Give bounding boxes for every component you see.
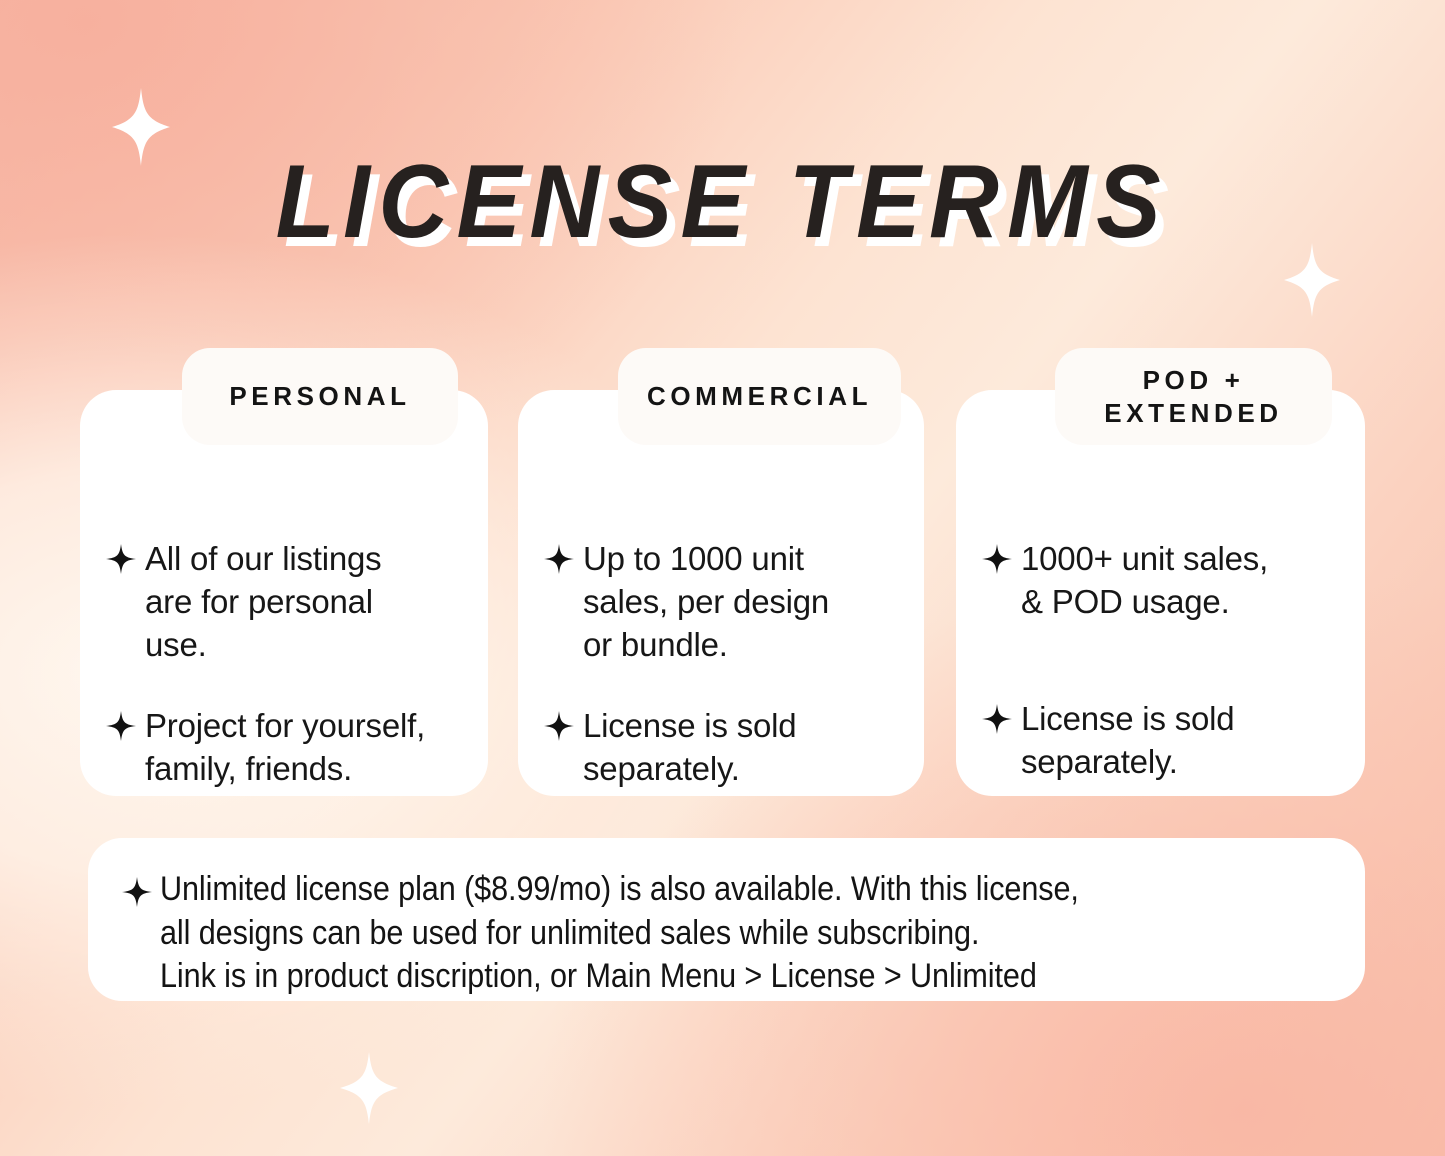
- list-item: 1000+ unit sales, & POD usage.: [982, 538, 1343, 624]
- sparkle-bullet-icon: [982, 704, 1012, 734]
- badge-pod-extended: POD + EXTENDED: [1055, 348, 1332, 445]
- banner-text: Unlimited license plan ($8.99/mo) is als…: [160, 868, 1214, 999]
- page-title: LICENSE TERMS: [276, 150, 1169, 254]
- banner-inner: Unlimited license plan ($8.99/mo) is als…: [88, 838, 1365, 999]
- sparkle-bullet-icon: [106, 711, 136, 741]
- unlimited-license-banner: Unlimited license plan ($8.99/mo) is als…: [88, 838, 1365, 1001]
- list-item-text: License is sold separately.: [1021, 698, 1234, 784]
- badge-pod-extended-label: POD + EXTENDED: [1104, 364, 1282, 429]
- page-title-container: LICENSE TERMS: [0, 150, 1445, 254]
- sparkle-top-right-icon: [1284, 243, 1340, 317]
- sparkle-bullet-icon: [982, 544, 1012, 574]
- card-body-pod-extended: 1000+ unit sales, & POD usage. License i…: [956, 488, 1365, 784]
- license-card-personal: All of our listings are for personal use…: [80, 390, 488, 796]
- sparkle-bullet-icon: [544, 711, 574, 741]
- list-item-text: Up to 1000 unit sales, per design or bun…: [583, 538, 829, 667]
- list-item: Project for yourself, family, friends.: [106, 705, 466, 791]
- badge-commercial-label: COMMERCIAL: [647, 380, 872, 413]
- list-item-text: 1000+ unit sales, & POD usage.: [1021, 538, 1268, 624]
- list-item-text: All of our listings are for personal use…: [145, 538, 381, 667]
- sparkle-bullet-icon: [106, 544, 136, 574]
- license-card-commercial: Up to 1000 unit sales, per design or bun…: [518, 390, 924, 796]
- sparkle-bullet-icon: [544, 544, 574, 574]
- license-card-pod-extended: 1000+ unit sales, & POD usage. License i…: [956, 390, 1365, 796]
- list-item-text: License is sold separately.: [583, 705, 796, 791]
- card-body-commercial: Up to 1000 unit sales, per design or bun…: [518, 488, 924, 790]
- list-item: License is sold separately.: [544, 705, 902, 791]
- list-item-text: Project for yourself, family, friends.: [145, 705, 425, 791]
- sparkle-bullet-icon: [122, 877, 152, 907]
- license-terms-poster: LICENSE TERMS All of our listings are fo…: [0, 0, 1445, 1156]
- list-item: All of our listings are for personal use…: [106, 538, 466, 667]
- list-item: License is sold separately.: [982, 698, 1343, 784]
- sparkle-bottom-left-icon: [340, 1052, 398, 1124]
- badge-personal: PERSONAL: [182, 348, 458, 445]
- badge-commercial: COMMERCIAL: [618, 348, 901, 445]
- license-cards-row: All of our listings are for personal use…: [80, 348, 1365, 796]
- badge-personal-label: PERSONAL: [229, 380, 410, 413]
- list-item: Up to 1000 unit sales, per design or bun…: [544, 538, 902, 667]
- card-body-personal: All of our listings are for personal use…: [80, 488, 488, 790]
